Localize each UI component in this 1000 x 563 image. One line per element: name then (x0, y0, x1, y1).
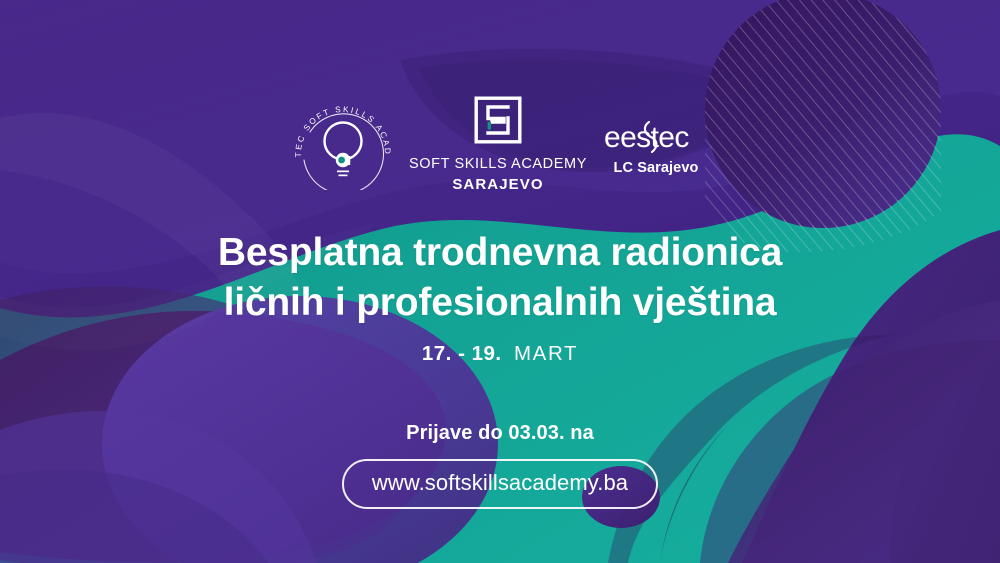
eestec-wordmark-icon: eestec (604, 119, 708, 157)
registration-deadline: Prijave do 03.03. na (406, 422, 594, 445)
promo-poster: EESTEC SOFT SKILLS ACADEMY SOFT SKILLS A… (0, 0, 1000, 563)
logo-row: EESTEC SOFT SKILLS ACADEMY SOFT SKILLS A… (0, 96, 1000, 192)
headline-line1: Besplatna trodnevna radionica (218, 231, 782, 274)
ssa-name-line1: SOFT SKILLS ACADEMY (409, 157, 587, 172)
date-line: 17. - 19. MART (422, 342, 578, 366)
eestec-ssa-seal-logo: EESTEC SOFT SKILLS ACADEMY (292, 98, 394, 190)
date-days: 17. - 19. (422, 342, 502, 365)
headline: Besplatna trodnevna radionica ličnih i p… (218, 228, 782, 329)
website-url-pill[interactable]: www.softskillsacademy.ba (342, 459, 658, 509)
lightbulb-icon: EESTEC SOFT SKILLS ACADEMY (292, 98, 394, 190)
eestec-text: eestec (604, 121, 689, 154)
eestec-subtitle: LC Sarajevo (614, 161, 699, 176)
eestec-logo: eestec LC Sarajevo (604, 113, 708, 176)
soft-skills-academy-logo: SOFT SKILLS ACADEMY SARAJEVO (418, 96, 578, 192)
ssa-name-line2: SARAJEVO (452, 177, 543, 192)
seal-ring-text: EESTEC SOFT SKILLS ACADEMY (292, 98, 392, 157)
ssa-monogram-icon (474, 96, 522, 144)
headline-line2: ličnih i profesionalnih vještina (218, 278, 782, 328)
date-month: MART (514, 342, 578, 365)
